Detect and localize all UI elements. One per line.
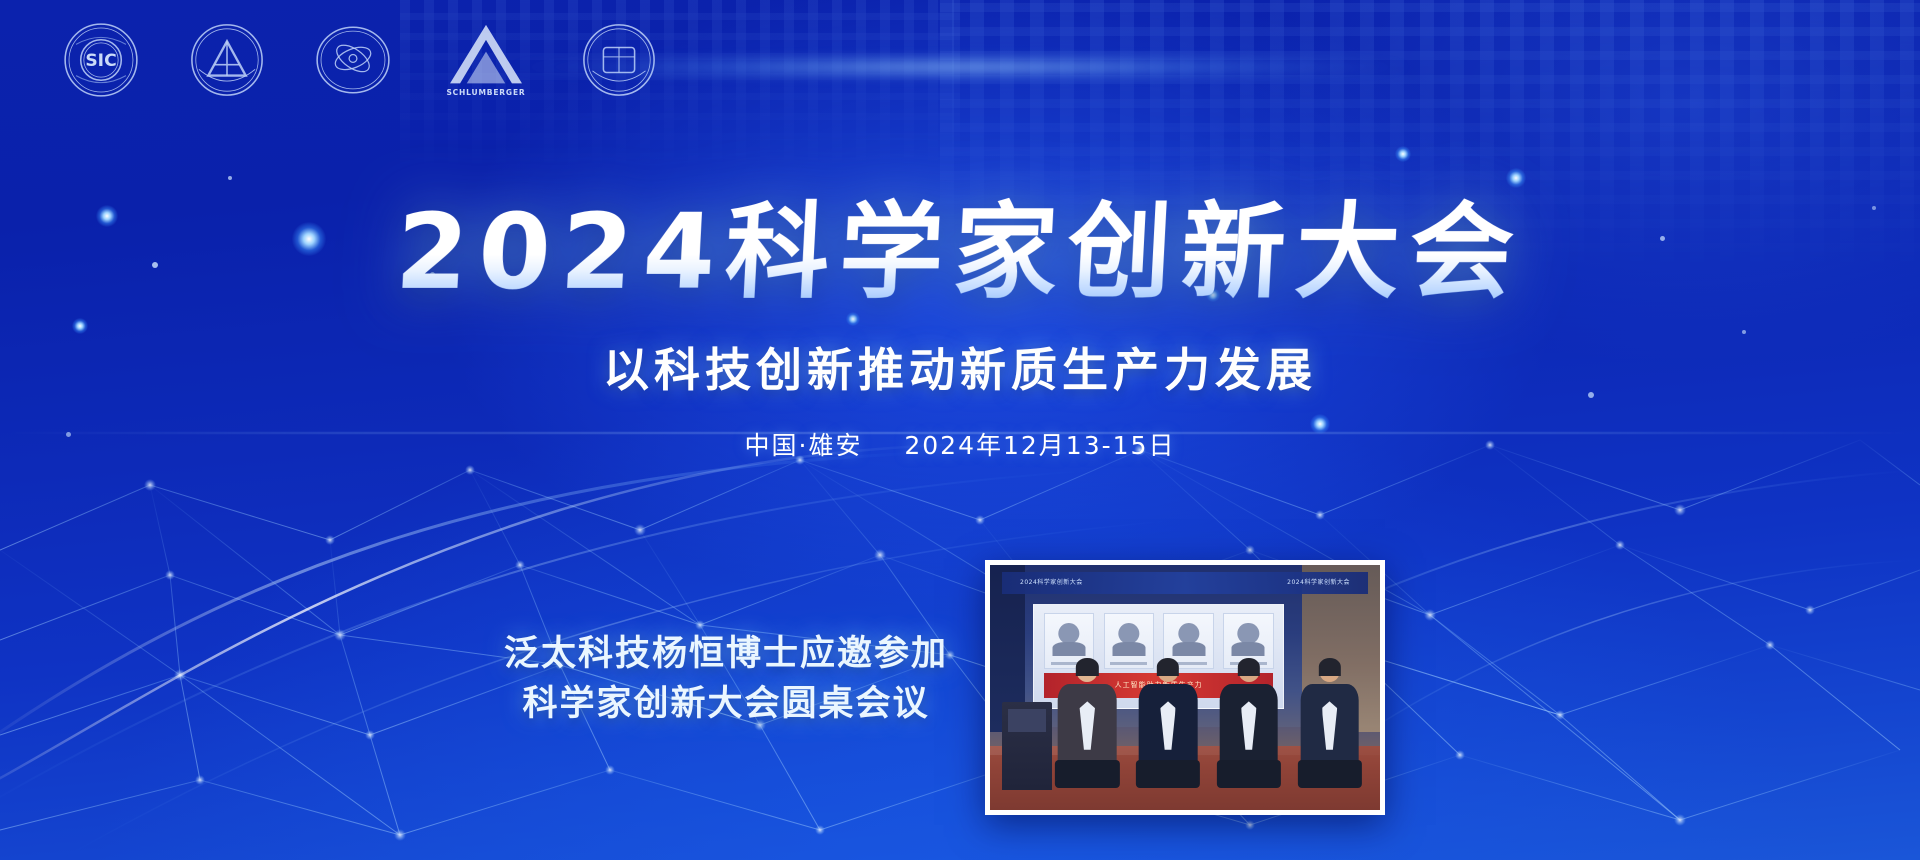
emblem-sic-seal-icon: SIC	[62, 21, 140, 99]
photo-stage-banner-left: 2024科学家创新大会	[1020, 577, 1083, 586]
roundtable-panel-photo: 2024科学家创新大会 2024科学家创新大会 人工智能助力新质生产力	[985, 560, 1385, 815]
title-glow-bar	[510, 58, 1410, 76]
light-swoosh	[0, 400, 1140, 830]
photo-stage-banner: 2024科学家创新大会 2024科学家创新大会	[1002, 572, 1369, 594]
emblem-atom-seal-icon	[314, 21, 392, 99]
event-location: 中国·雄安	[745, 431, 863, 460]
photo-content: 2024科学家创新大会 2024科学家创新大会 人工智能助力新质生产力	[990, 565, 1380, 810]
photo-panelist	[1052, 661, 1122, 788]
photo-panelists	[1052, 661, 1364, 788]
emblem-sic-text: SIC	[85, 51, 116, 71]
title-block: 2024科学家创新大会 以科技创新推动新质生产力发展 中国·雄安 2024年12…	[0, 196, 1920, 462]
photo-panelist	[1133, 661, 1203, 788]
emblem-triangle-seal-icon	[188, 21, 266, 99]
photo-caption: 泛太科技杨恒博士应邀参加 科学家创新大会圆桌会议	[476, 630, 976, 729]
photo-stage-banner-right: 2024科学家创新大会	[1287, 577, 1350, 586]
photo-panelist	[1214, 661, 1284, 788]
event-meta: 中国·雄安 2024年12月13-15日	[0, 426, 1920, 462]
page-subtitle: 以科技创新推动新质生产力发展	[0, 334, 1920, 400]
conference-banner: SIC	[0, 0, 1920, 860]
emblem-delta-text: SCHLUMBERGER	[446, 88, 525, 97]
event-date: 2024年12月13-15日	[904, 431, 1175, 460]
photo-podium	[1002, 702, 1053, 790]
page-title: 2024科学家创新大会	[393, 196, 1526, 308]
caption-line-1: 泛太科技杨恒博士应邀参加	[476, 630, 976, 680]
caption-line-2: 科学家创新大会圆桌会议	[476, 680, 976, 730]
photo-panelist	[1295, 661, 1365, 788]
